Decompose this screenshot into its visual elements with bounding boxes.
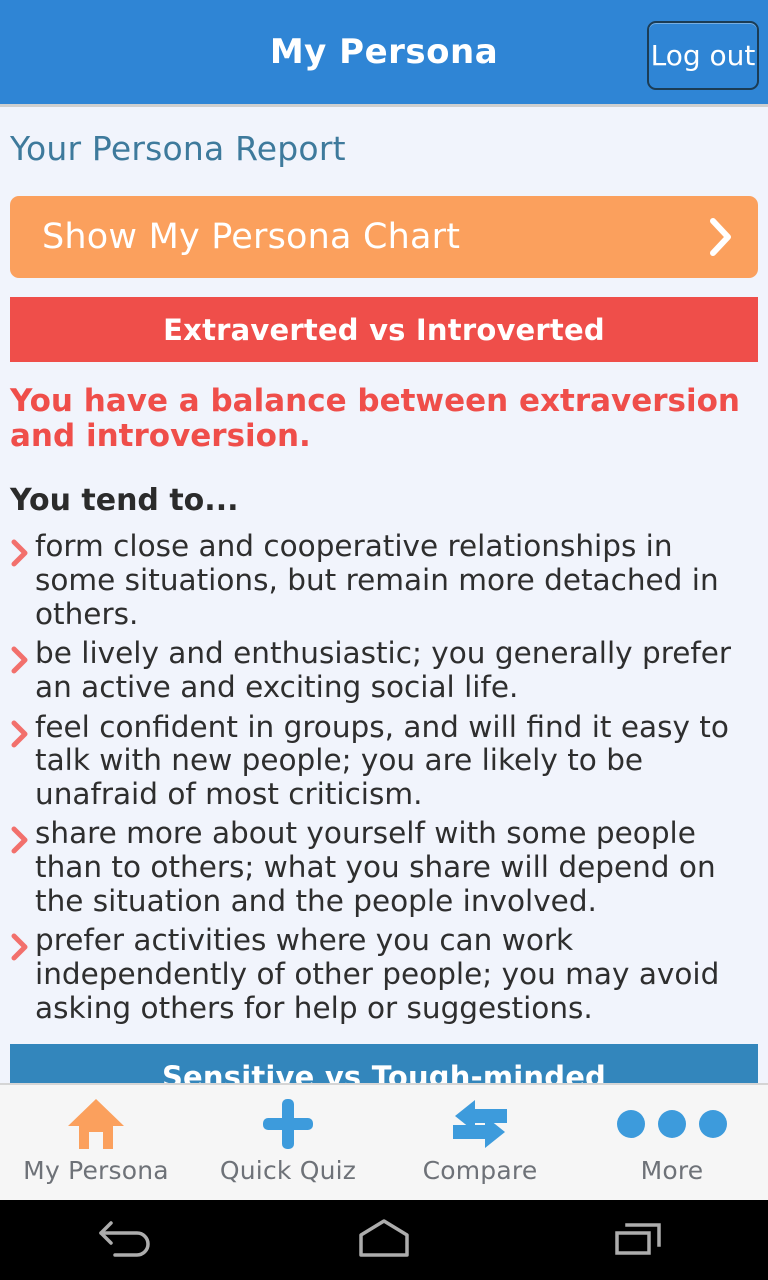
dot: [617, 1110, 645, 1138]
section-header-sensitive-toughminded[interactable]: Sensitive vs Tough-minded: [10, 1044, 758, 1083]
app-bar: My Persona Log out: [0, 0, 768, 107]
dot: [658, 1110, 686, 1138]
tab-my-persona[interactable]: My Persona: [0, 1085, 192, 1200]
tab-label: Quick Quiz: [220, 1156, 356, 1185]
chevron-bullet-icon: [8, 932, 32, 962]
list-item: form close and cooperative relationships…: [8, 530, 758, 631]
report-content[interactable]: Your Persona Report Show My Persona Char…: [0, 107, 768, 1083]
list-item-text: prefer activities where you can work ind…: [32, 924, 758, 1025]
list-item-text: feel confident in groups, and will find …: [32, 711, 758, 812]
chevron-bullet-icon: [8, 645, 32, 675]
more-dots-icon: [617, 1096, 727, 1152]
compare-arrows-icon: [449, 1096, 511, 1152]
chevron-right-icon: [710, 218, 732, 256]
tab-label: More: [641, 1156, 704, 1185]
section-header-extraverted-introverted[interactable]: Extraverted vs Introverted: [10, 297, 758, 362]
list-item: share more about yourself with some peop…: [8, 817, 758, 918]
report-heading: Your Persona Report: [0, 107, 768, 168]
dot: [699, 1110, 727, 1138]
home-outline-icon: [355, 1215, 413, 1265]
system-recents-button[interactable]: [512, 1215, 768, 1265]
home-icon: [66, 1096, 126, 1152]
bottom-tab-bar: My Persona Quick Quiz Compare: [0, 1083, 768, 1200]
list-item: be lively and enthusiastic; you generall…: [8, 637, 758, 704]
list-item-text: be lively and enthusiastic; you generall…: [32, 637, 758, 704]
list-item-text: form close and cooperative relationships…: [32, 530, 758, 631]
back-arrow-icon: [99, 1215, 157, 1265]
chevron-bullet-icon: [8, 719, 32, 749]
tab-label: Compare: [423, 1156, 538, 1185]
system-navigation-bar: [0, 1200, 768, 1280]
app-root: My Persona Log out Your Persona Report S…: [0, 0, 768, 1280]
list-item: feel confident in groups, and will find …: [8, 711, 758, 812]
system-home-button[interactable]: [256, 1215, 512, 1265]
system-back-button[interactable]: [0, 1215, 256, 1265]
show-persona-chart-label: Show My Persona Chart: [42, 217, 460, 257]
list-item-text: share more about yourself with some peop…: [32, 817, 758, 918]
chevron-bullet-icon: [8, 825, 32, 855]
show-persona-chart-button[interactable]: Show My Persona Chart: [10, 196, 758, 278]
tab-compare[interactable]: Compare: [384, 1085, 576, 1200]
tab-quick-quiz[interactable]: Quick Quiz: [192, 1085, 384, 1200]
tendency-list: form close and cooperative relationships…: [8, 530, 758, 1025]
plus-icon: [260, 1096, 316, 1152]
logout-button[interactable]: Log out: [647, 21, 759, 90]
page-title: My Persona: [270, 32, 498, 72]
section-summary: You have a balance between extraversion …: [10, 384, 758, 453]
list-item: prefer activities where you can work ind…: [8, 924, 758, 1025]
chevron-bullet-icon: [8, 538, 32, 568]
recent-apps-icon: [611, 1215, 669, 1265]
tab-more[interactable]: More: [576, 1085, 768, 1200]
tend-to-label: You tend to...: [10, 483, 758, 518]
tab-label: My Persona: [23, 1156, 169, 1185]
